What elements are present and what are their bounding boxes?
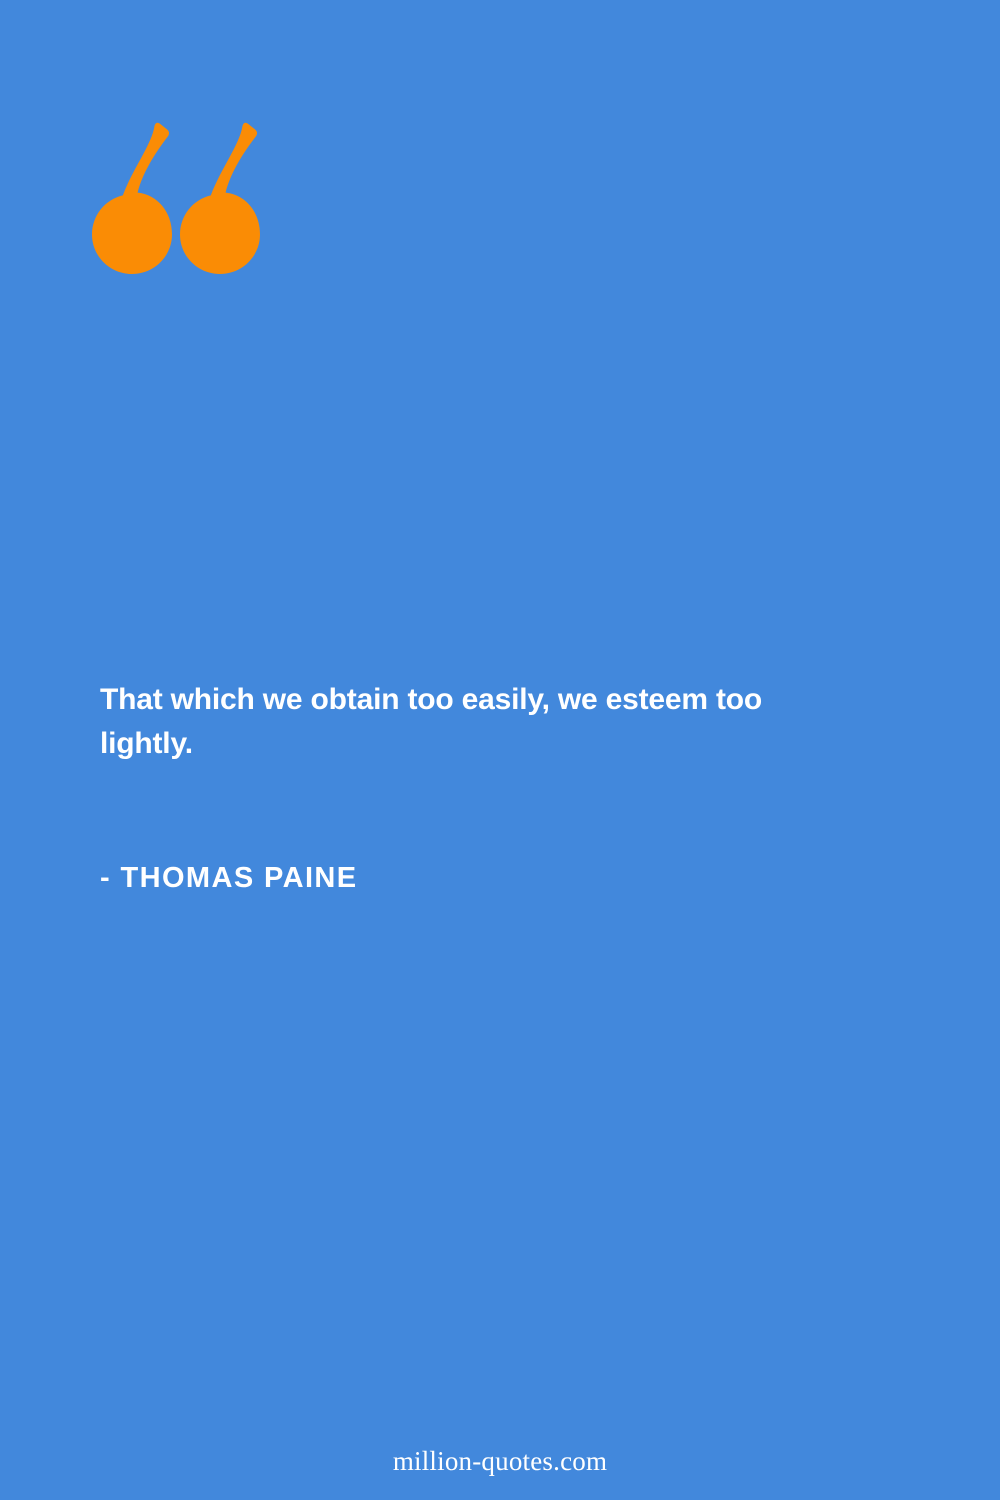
quote-card: That which we obtain too easily, we este… (0, 0, 1000, 1500)
double-quote-open-icon (92, 122, 260, 274)
quote-author: - THOMAS PAINE (100, 862, 358, 895)
quote-text: That which we obtain too easily, we este… (100, 678, 820, 766)
site-watermark: million-quotes.com (0, 1446, 1000, 1477)
